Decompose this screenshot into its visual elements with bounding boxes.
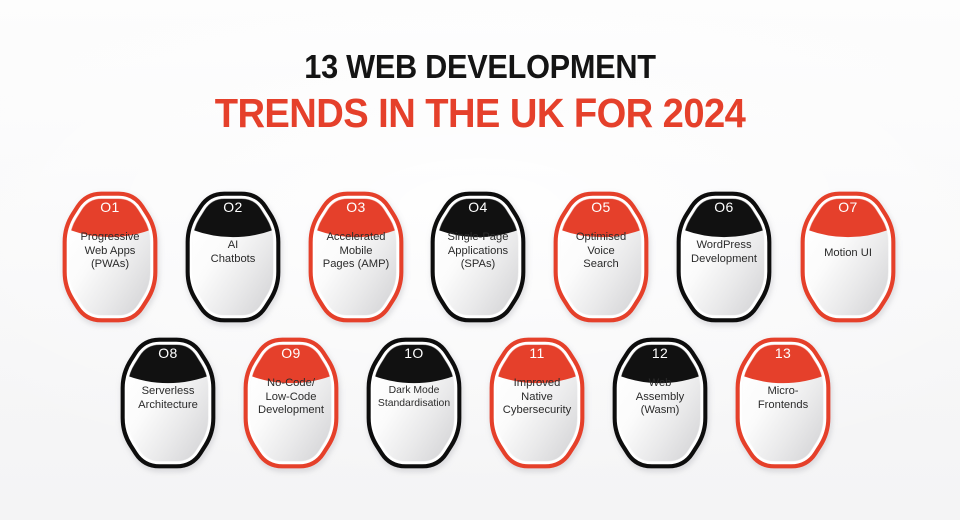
trend-hex-1o[interactable]: 1ODark Mode Standardisation	[366, 337, 462, 469]
hex-shape	[489, 337, 585, 469]
hex-shape	[800, 191, 896, 323]
trend-hex-o9[interactable]: O9No-Code/ Low-Code Development	[243, 337, 339, 469]
trend-hex-o7[interactable]: O7Motion UI	[800, 191, 896, 323]
trend-hex-12[interactable]: 12Web Assembly (Wasm)	[612, 337, 708, 469]
title-block: 13 WEB DEVELOPMENT TRENDS IN THE UK FOR …	[0, 48, 960, 137]
trend-hex-o4[interactable]: O4Single-Page Applications (SPAs)	[430, 191, 526, 323]
hex-shape	[553, 191, 649, 323]
trend-hex-o5[interactable]: O5Optimised Voice Search	[553, 191, 649, 323]
trend-hex-o1[interactable]: O1Progressive Web Apps (PWAs)	[62, 191, 158, 323]
hex-shape	[676, 191, 772, 323]
hex-shape	[243, 337, 339, 469]
page-title-line-1: 13 WEB DEVELOPMENT	[34, 48, 927, 86]
hex-shape	[430, 191, 526, 323]
trend-hex-13[interactable]: 13Micro- Frontends	[735, 337, 831, 469]
hex-shape	[185, 191, 281, 323]
hex-shape	[308, 191, 404, 323]
hex-shape	[120, 337, 216, 469]
trend-hex-o3[interactable]: O3Accelerated Mobile Pages (AMP)	[308, 191, 404, 323]
page-title-line-2: TRENDS IN THE UK FOR 2024	[34, 89, 927, 137]
hex-shape	[62, 191, 158, 323]
hex-shape	[735, 337, 831, 469]
trend-hex-11[interactable]: 11Improved Native Cybersecurity	[489, 337, 585, 469]
hex-shape	[366, 337, 462, 469]
hex-shape	[612, 337, 708, 469]
trend-hex-o2[interactable]: O2AI Chatbots	[185, 191, 281, 323]
trend-hex-o6[interactable]: O6WordPress Development	[676, 191, 772, 323]
trend-hex-o8[interactable]: O8Serverless Architecture	[120, 337, 216, 469]
